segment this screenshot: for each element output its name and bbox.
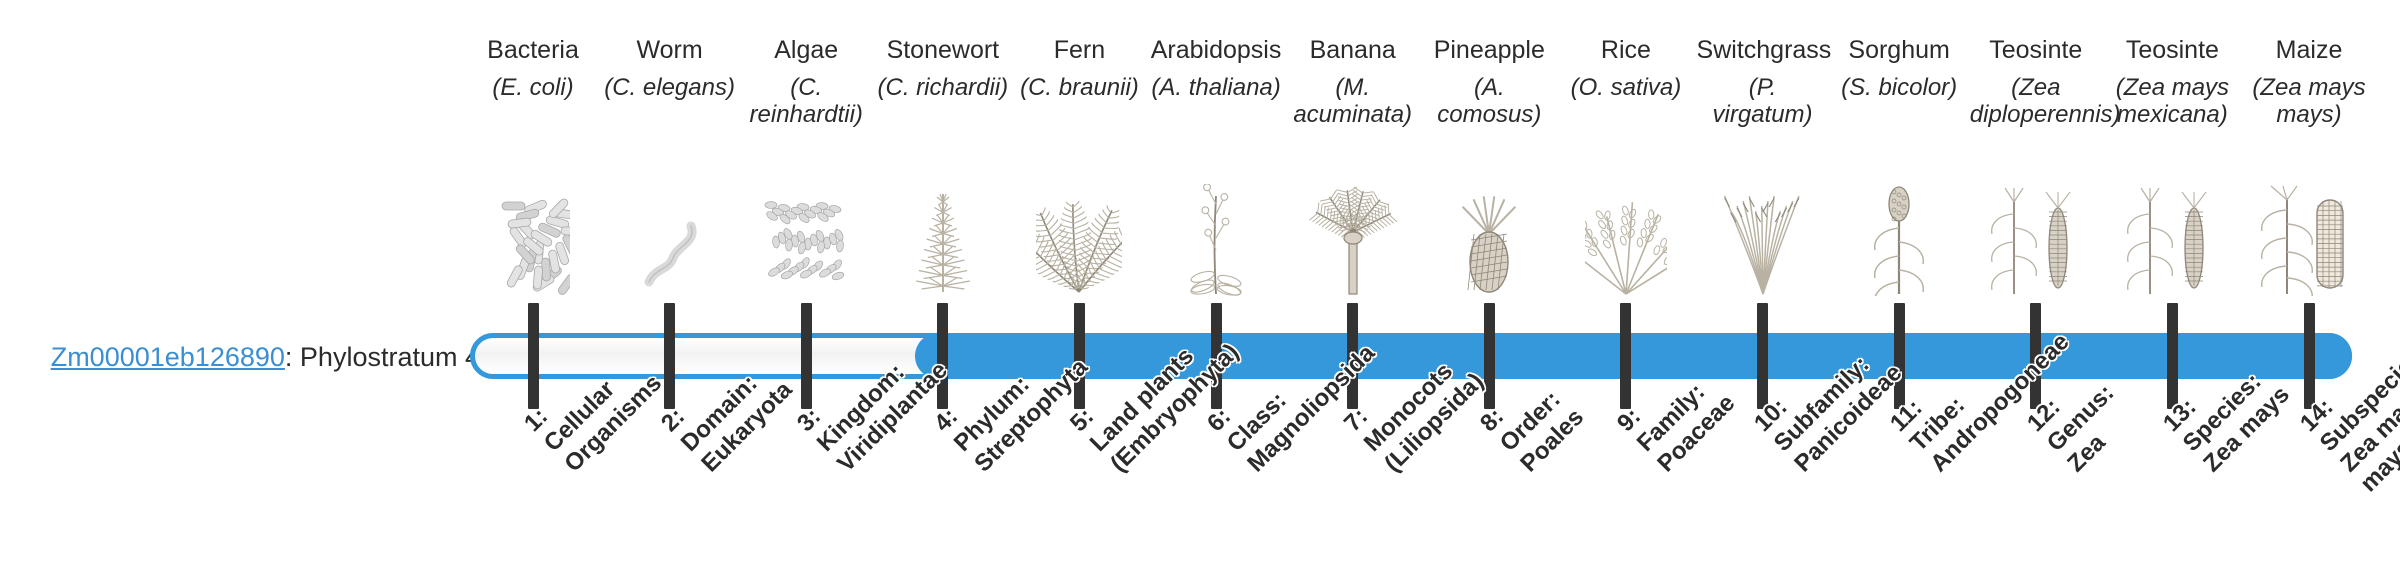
species-latin-name: (O. sativa) xyxy=(1560,74,1692,101)
maize-icon xyxy=(2239,168,2379,296)
banana-icon xyxy=(1283,168,1423,296)
species-common-name: Banana xyxy=(1287,36,1419,64)
gene-phylostratum-label: Zm00001eb126890: Phylostratum 4 xyxy=(40,342,480,373)
stratum-tick xyxy=(801,303,812,409)
stratum-tick xyxy=(1484,303,1495,409)
algae-icon xyxy=(736,168,876,296)
stratum-tick xyxy=(1894,303,1905,409)
species-common-name: Sorghum xyxy=(1833,36,1965,64)
species-common-name: Teosinte xyxy=(1970,36,2102,64)
species-column: Banana (M. acuminata) xyxy=(1287,36,1419,129)
species-latin-name: (E. coli) xyxy=(467,74,599,101)
stonewort-icon xyxy=(873,168,1013,296)
stratum-rank-text: Order: Poales xyxy=(1495,386,1589,477)
phylostratigraphy-figure: Zm00001eb126890: Phylostratum 4 Bacteria… xyxy=(0,0,2400,580)
species-latin-name: (C. reinhardtii) xyxy=(740,74,872,129)
species-column: Switchgrass (P. virgatum) xyxy=(1697,36,1829,129)
species-column: Bacteria (E. coli) xyxy=(467,36,599,101)
species-column: Algae (C. reinhardtii) xyxy=(740,36,872,129)
species-column: Rice (O. sativa) xyxy=(1560,36,1692,101)
switchgrass-icon xyxy=(1693,168,1833,296)
sorghum-icon xyxy=(1829,168,1969,296)
stratum-rank-text: Domain: Eukaryota xyxy=(676,370,797,477)
species-latin-name: (M. acuminata) xyxy=(1287,74,1419,129)
stratum-rank-text: Genus: Zea xyxy=(2042,380,2120,478)
rice-icon xyxy=(1556,168,1696,296)
species-common-name: Maize xyxy=(2243,36,2375,64)
species-latin-name: (S. bicolor) xyxy=(1833,74,1965,101)
stratum-tick xyxy=(2304,303,2315,409)
species-column: Worm (C. elegans) xyxy=(604,36,736,101)
species-common-name: Algae xyxy=(740,36,872,64)
species-column: Sorghum (S. bicolor) xyxy=(1833,36,1965,101)
species-latin-name: (A. comosus) xyxy=(1423,74,1555,129)
species-latin-name: (C. richardii) xyxy=(877,74,1009,101)
species-latin-name: (Zea mays mays) xyxy=(2243,74,2375,129)
species-column: Arabidopsis (A. thaliana) xyxy=(1150,36,1282,101)
arabidopsis-icon xyxy=(1146,168,1286,296)
stratum-rank-text: Cellular Organisms xyxy=(539,369,667,477)
species-latin-name: (P. virgatum) xyxy=(1697,74,1829,129)
species-latin-name: (A. thaliana) xyxy=(1150,74,1282,101)
species-common-name: Stonewort xyxy=(877,36,1009,64)
fern-icon xyxy=(1009,168,1149,296)
species-column: Fern (C. braunii) xyxy=(1013,36,1145,101)
species-common-name: Arabidopsis xyxy=(1150,36,1282,64)
species-common-name: Worm xyxy=(604,36,736,64)
pineapple-icon xyxy=(1419,168,1559,296)
nematode-icon xyxy=(600,168,740,296)
bacteria-icon xyxy=(463,168,603,296)
species-common-name: Pineapple xyxy=(1423,36,1555,64)
gene-id-link[interactable]: Zm00001eb126890 xyxy=(51,342,285,372)
teosinte-mexicana-icon xyxy=(2102,168,2242,296)
species-column: Maize (Zea mays mays) xyxy=(2243,36,2375,129)
phylostratum-value-text: Phylostratum 4 xyxy=(300,342,480,372)
teosinte-icon xyxy=(1966,168,2106,296)
stratum-tick xyxy=(1757,303,1768,409)
species-latin-name: (Zea mays mexicana) xyxy=(2106,74,2238,129)
gene-label-separator: : xyxy=(285,342,300,372)
species-column: Pineapple (A. comosus) xyxy=(1423,36,1555,129)
species-column: Stonewort (C. richardii) xyxy=(877,36,1009,101)
species-common-name: Bacteria xyxy=(467,36,599,64)
stratum-tick xyxy=(2167,303,2178,409)
stratum-tick xyxy=(664,303,675,409)
species-latin-name: (Zea diploperennis) xyxy=(1970,74,2102,129)
stratum-tick xyxy=(937,303,948,409)
stratum-rank-label: 11: Tribe: Andropogoneae xyxy=(1885,288,2075,478)
species-column: Teosinte (Zea diploperennis) xyxy=(1970,36,2102,129)
species-common-name: Switchgrass xyxy=(1697,36,1829,64)
stratum-rank-text: Species: Zea mays xyxy=(2178,368,2294,477)
stratum-rank-text: Family: Poaceae xyxy=(1632,379,1740,478)
species-common-name: Teosinte xyxy=(2106,36,2238,64)
stratum-tick xyxy=(1620,303,1631,409)
species-latin-name: (C. elegans) xyxy=(604,74,736,101)
species-latin-name: (C. braunii) xyxy=(1013,74,1145,101)
stratum-tick xyxy=(528,303,539,409)
species-common-name: Fern xyxy=(1013,36,1145,64)
species-column: Teosinte (Zea mays mexicana) xyxy=(2106,36,2238,129)
species-common-name: Rice xyxy=(1560,36,1692,64)
